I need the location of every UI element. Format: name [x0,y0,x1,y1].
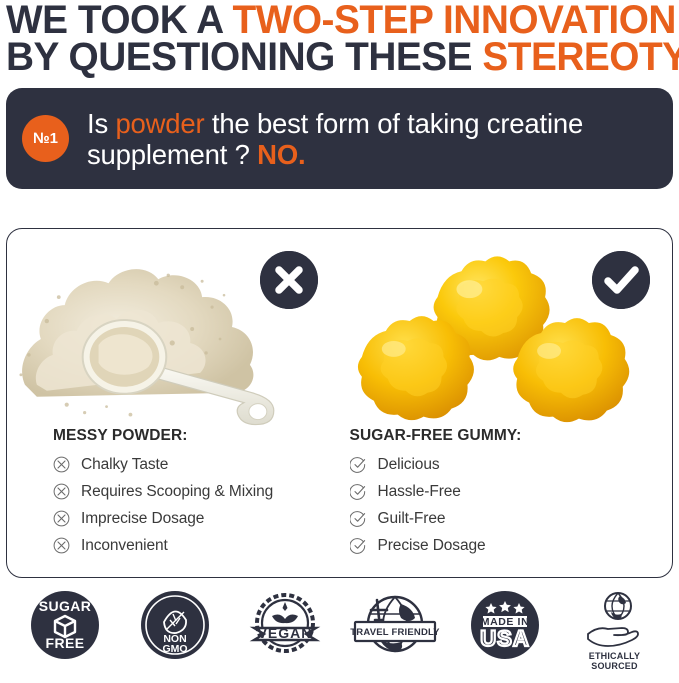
circle-cross-icon [53,456,70,473]
list-item: Delicious [350,454,663,475]
list-title-gummy: SUGAR-FREE GUMMY: [350,427,663,445]
list-title-powder: MESSY POWDER: [53,427,330,445]
headline-text-2a: BY QUESTIONING THESE [6,35,482,79]
question-text: Is powder the best form of taking creati… [87,108,657,171]
circle-check-icon [350,483,367,500]
headline-accent-2: STEREOTYPES [482,35,679,79]
headline-line-1: WE TOOK A TWO-STEP INNOVATION APPROACH [6,2,653,39]
badge-non-gmo: NON GMO [133,590,217,682]
list-item: Precise Dosage [350,535,663,556]
list-item: Requires Scooping & Mixing [53,481,330,502]
question-banner: №1 Is powder the best form of taking cre… [6,88,673,189]
sugar-cube-icon: SUGAR FREE [30,590,100,660]
stars-icon: MADE IN USA [470,590,540,660]
circle-cross-icon [53,537,70,554]
circle-check-icon [350,510,367,527]
list-item: Inconvenient [53,535,330,556]
list-item: Hassle-Free [350,481,663,502]
list-item: Imprecise Dosage [53,508,330,529]
list-item-label: Chalky Taste [81,456,168,474]
svg-text:SUGAR: SUGAR [38,598,91,614]
list-item: Chalky Taste [53,454,330,475]
circle-check-icon [350,537,367,554]
question-accent-powder: powder [115,108,204,139]
svg-text:FREE: FREE [45,635,84,651]
list-item-label: Precise Dosage [378,537,486,555]
badge-ethically-sourced: ETHICALLY SOURCED [573,590,657,682]
trust-badge-row: SUGAR FREE NON GMO VEGAN [0,586,679,683]
svg-text:VEGAN: VEGAN [257,625,312,641]
page-headline: WE TOOK A TWO-STEP INNOVATION APPROACH B… [0,0,679,76]
comparison-column-gummy: SUGAR-FREE GUMMY: Delicious [340,229,673,577]
leaf-icon: NON GMO [140,590,210,660]
globe-in-hand-icon [584,590,646,648]
powder-drawback-list: MESSY POWDER: Chalky Taste [53,427,330,562]
vegan-leaf-icon: VEGAN [246,590,324,660]
question-accent-no: NO. [257,139,305,170]
gummy-benefit-list: SUGAR-FREE GUMMY: Delicious [350,427,663,562]
comparison-card: MESSY POWDER: Chalky Taste [6,228,673,578]
circle-cross-icon [53,483,70,500]
badge-made-in-usa: MADE IN USA [463,590,547,682]
svg-text:GMO: GMO [162,643,187,655]
check-icon [592,251,650,309]
badge-caption-line2: SOURCED [591,661,637,671]
comparison-column-powder: MESSY POWDER: Chalky Taste [7,229,340,577]
list-item-label: Imprecise Dosage [81,510,204,528]
globe-plane-icon: TRAVEL FRIENDLY [349,590,441,660]
badge-travel-friendly: TRAVEL FRIENDLY [353,590,437,682]
cross-icon [260,251,318,309]
list-item: Guilt-Free [350,508,663,529]
step-number-badge: №1 [22,115,69,162]
svg-text:USA: USA [480,626,529,651]
circle-cross-icon [53,510,70,527]
list-item-label: Hassle-Free [378,483,461,501]
badge-caption-line1: ETHICALLY [589,651,640,661]
list-item-label: Delicious [378,456,440,474]
question-text-part1: Is [87,108,115,139]
headline-line-2: BY QUESTIONING THESE STEREOTYPES [6,39,653,76]
badge-caption: ETHICALLY SOURCED [589,651,640,671]
badge-vegan: VEGAN [243,590,327,682]
list-item-label: Requires Scooping & Mixing [81,483,273,501]
badge-sugar-free: SUGAR FREE [23,590,107,682]
circle-check-icon [350,456,367,473]
svg-text:TRAVEL FRIENDLY: TRAVEL FRIENDLY [350,627,440,638]
list-item-label: Guilt-Free [378,510,446,528]
list-item-label: Inconvenient [81,537,168,555]
